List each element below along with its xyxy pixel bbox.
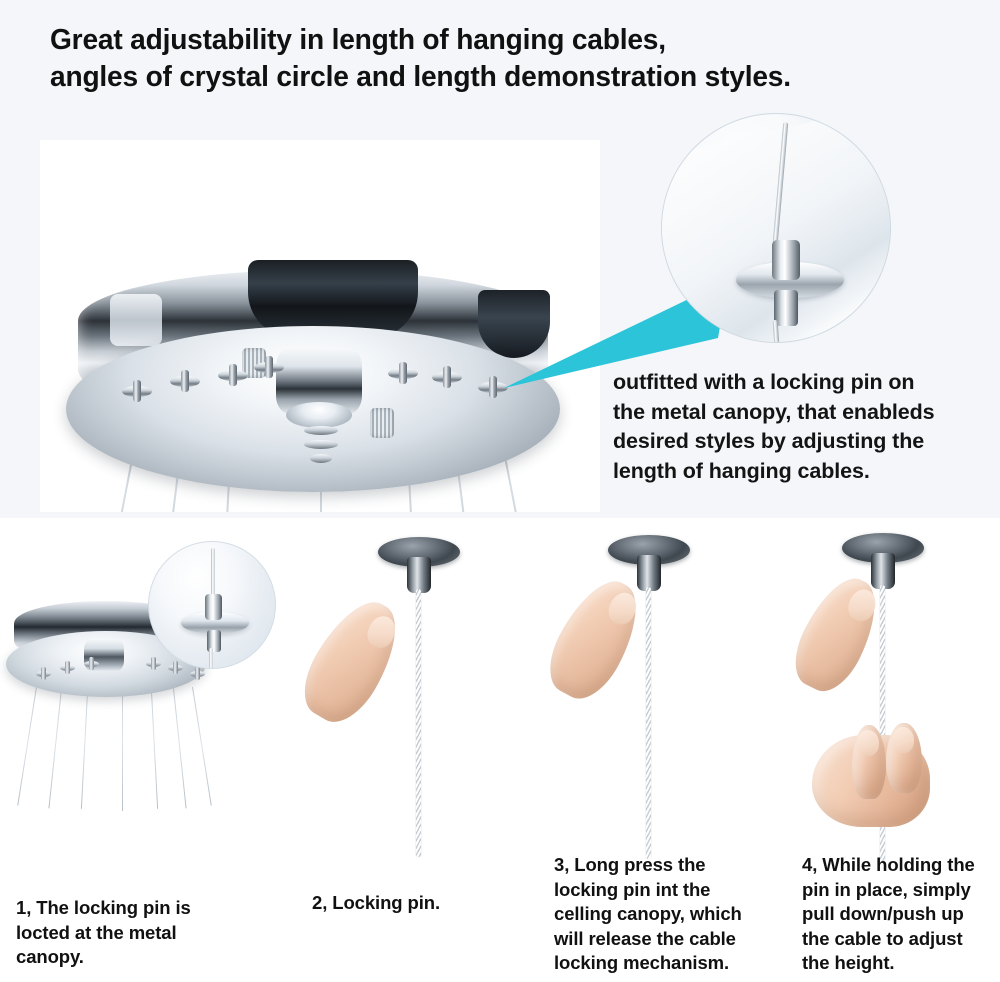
gripping-thumb xyxy=(852,725,886,799)
pressing-finger xyxy=(537,569,653,709)
inset-magnifier-circle xyxy=(148,541,276,669)
fingernail xyxy=(857,730,879,756)
hanging-cable xyxy=(48,679,63,808)
magnified-pin-body xyxy=(205,594,222,620)
step-4-illustration xyxy=(790,519,1000,849)
fingernail xyxy=(892,727,914,753)
step-2-illustration xyxy=(290,519,540,849)
step-1-caption: 1, The locking pin is locted at the meta… xyxy=(16,896,284,970)
step-panel-3: 3, Long press the locking pin int the ce… xyxy=(540,519,790,982)
pointing-finger xyxy=(291,589,414,734)
fingernail xyxy=(845,586,880,625)
locking-pin xyxy=(388,362,418,384)
magnified-cable-lower xyxy=(209,648,213,669)
locking-pin xyxy=(60,661,75,674)
steel-cable xyxy=(416,589,421,857)
hanging-cable xyxy=(172,679,187,808)
step-2-caption: 2, Locking pin. xyxy=(312,891,534,916)
gripping-index-finger xyxy=(886,723,922,793)
step-1-illustration xyxy=(0,519,300,849)
steps-section: 1, The locking pin is locted at the meta… xyxy=(0,519,1000,982)
locking-pin xyxy=(36,667,51,680)
step-panel-4: 4, While holding the pin in place, simpl… xyxy=(790,519,1000,982)
steel-cable xyxy=(646,587,651,859)
step-3-illustration xyxy=(540,519,790,849)
magnified-pin-body xyxy=(772,240,800,280)
locking-pin xyxy=(254,356,284,378)
step-3-caption: 3, Long press the locking pin int the ce… xyxy=(554,853,790,976)
locking-pin-stem xyxy=(407,557,431,593)
hanging-cable xyxy=(192,687,212,806)
locking-pin xyxy=(146,657,161,670)
page-title: Great adjustability in length of hanging… xyxy=(50,22,942,97)
locking-pin xyxy=(432,366,462,388)
callout-text: outfitted with a locking pin on the meta… xyxy=(613,368,991,487)
locking-pin xyxy=(168,661,183,674)
canopy-highlight xyxy=(110,294,162,346)
crystal-clip xyxy=(370,408,394,438)
locking-pin xyxy=(190,667,205,680)
step-panel-2: 2, Locking pin. xyxy=(290,519,540,982)
locking-pin xyxy=(122,380,152,402)
fingernail xyxy=(605,589,641,628)
locking-pin xyxy=(84,657,99,670)
center-finial xyxy=(304,424,338,468)
hanging-cable xyxy=(17,687,37,806)
locking-pin-stem xyxy=(637,555,661,591)
canopy-assembly xyxy=(58,198,578,512)
step-4-caption: 4, While holding the pin in place, simpl… xyxy=(802,853,1000,976)
step-panel-1: 1, The locking pin is locted at the meta… xyxy=(0,519,300,982)
locking-pin-stem xyxy=(871,553,895,589)
fingernail xyxy=(363,612,399,651)
magnifier-circle xyxy=(661,113,891,343)
locking-pin xyxy=(170,370,200,392)
locking-pin xyxy=(218,364,248,386)
